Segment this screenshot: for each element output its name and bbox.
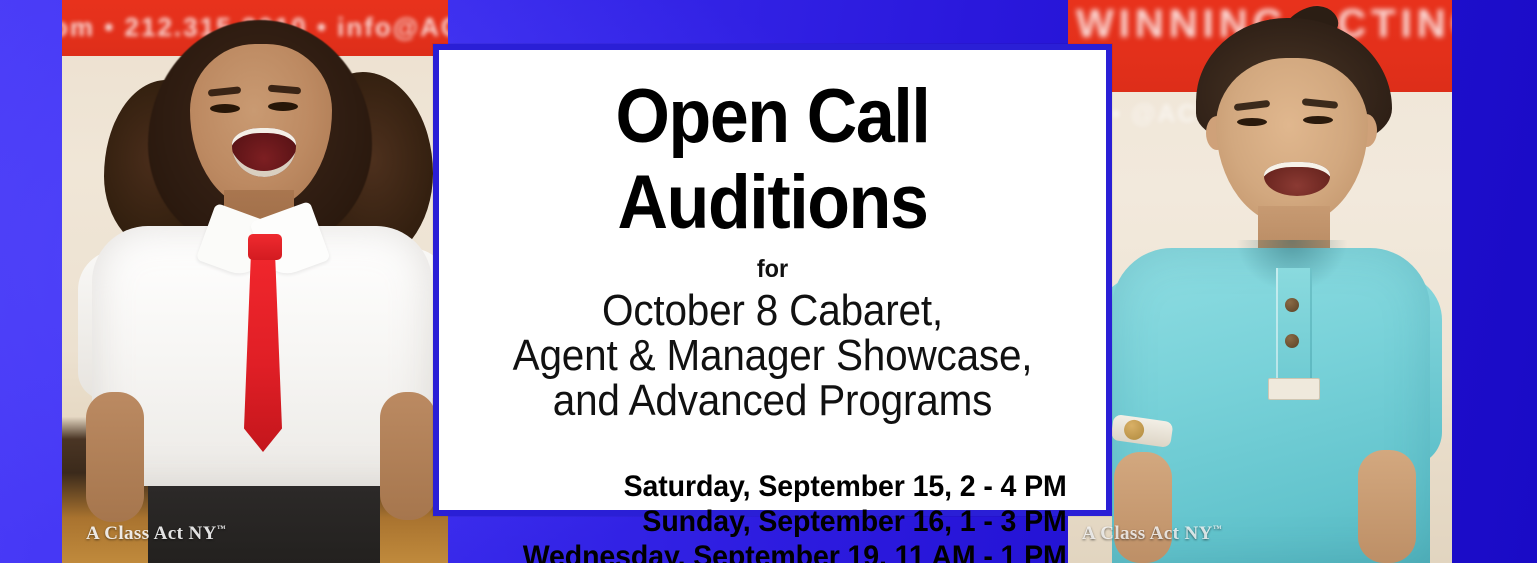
watermark-right-tm: ™ — [1213, 524, 1222, 534]
boy-name-tag — [1268, 378, 1320, 400]
watermark-left-tm: ™ — [217, 524, 226, 534]
boy-shirt-placket — [1276, 268, 1312, 396]
page-title: Open Call Auditions — [490, 50, 1056, 246]
announcement-card: Open Call Auditions for October 8 Cabare… — [433, 44, 1112, 516]
boy-shirt-button-top — [1285, 298, 1299, 312]
watermark-right: A Class Act NY™ — [1082, 523, 1222, 545]
boy-eye-left — [1237, 118, 1267, 126]
boy-shirt-button-bottom — [1285, 334, 1299, 348]
photo-left: om • 212.315.3010 • info@AClassA A Class… — [62, 0, 448, 563]
boy-arm-right — [1358, 450, 1416, 563]
session-date-row: Sunday, September 16, 1 - 3 PM — [496, 504, 1067, 539]
session-date-row: Saturday, September 15, 2 - 4 PM — [496, 469, 1067, 504]
program-line: October 8 Cabaret, — [490, 288, 1056, 333]
girl-necktie-knot — [248, 234, 282, 260]
session-dates: Saturday, September 15, 2 - 4 PM Sunday,… — [496, 423, 1080, 563]
program-line: and Advanced Programs — [490, 378, 1056, 423]
girl-eye-left — [210, 104, 240, 113]
girl-arm-right — [380, 392, 436, 520]
watermark-right-text: A Class Act NY — [1082, 523, 1213, 544]
boy-eye-right — [1303, 116, 1333, 124]
program-list: October 8 Cabaret, Agent & Manager Showc… — [490, 284, 1056, 423]
boy-wristwatch-face — [1123, 419, 1146, 442]
girl-eye-right — [268, 102, 298, 111]
girl-necktie — [244, 256, 282, 452]
announcement-card-inner: Open Call Auditions for October 8 Cabare… — [439, 50, 1106, 510]
program-line: Agent & Manager Showcase, — [490, 333, 1056, 378]
session-date-row: Wednesday, September 19, 11 AM - 1 PM — [496, 539, 1067, 563]
watermark-left-text: A Class Act NY — [86, 523, 217, 544]
photo-right: WINNING ACTING S 15.3010 • @AClassA A Cl… — [1068, 0, 1452, 563]
boy-arm-left — [1114, 452, 1172, 563]
for-label: for — [483, 246, 1061, 284]
watermark-left: A Class Act NY™ — [86, 523, 226, 545]
poster-canvas: om • 212.315.3010 • info@AClassA A Class… — [0, 0, 1537, 563]
girl-arm-left — [86, 392, 144, 522]
